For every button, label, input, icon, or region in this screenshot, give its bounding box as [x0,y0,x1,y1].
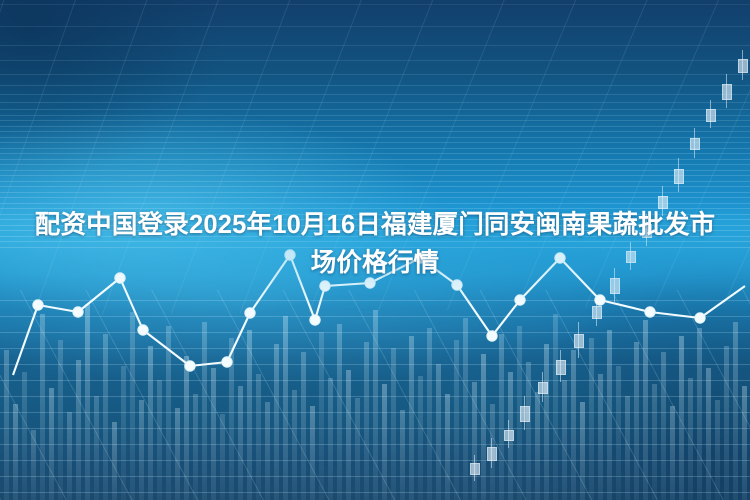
banner-image: 配资中国登录2025年10月16日福建厦门同安闽南果蔬批发市 场价格行情 [0,0,750,500]
banner-title: 配资中国登录2025年10月16日福建厦门同安闽南果蔬批发市 场价格行情 [0,206,750,282]
banner-title-line-1: 配资中国登录2025年10月16日福建厦门同安闽南果蔬批发市 [0,206,750,244]
banner-title-line-2: 场价格行情 [0,244,750,282]
